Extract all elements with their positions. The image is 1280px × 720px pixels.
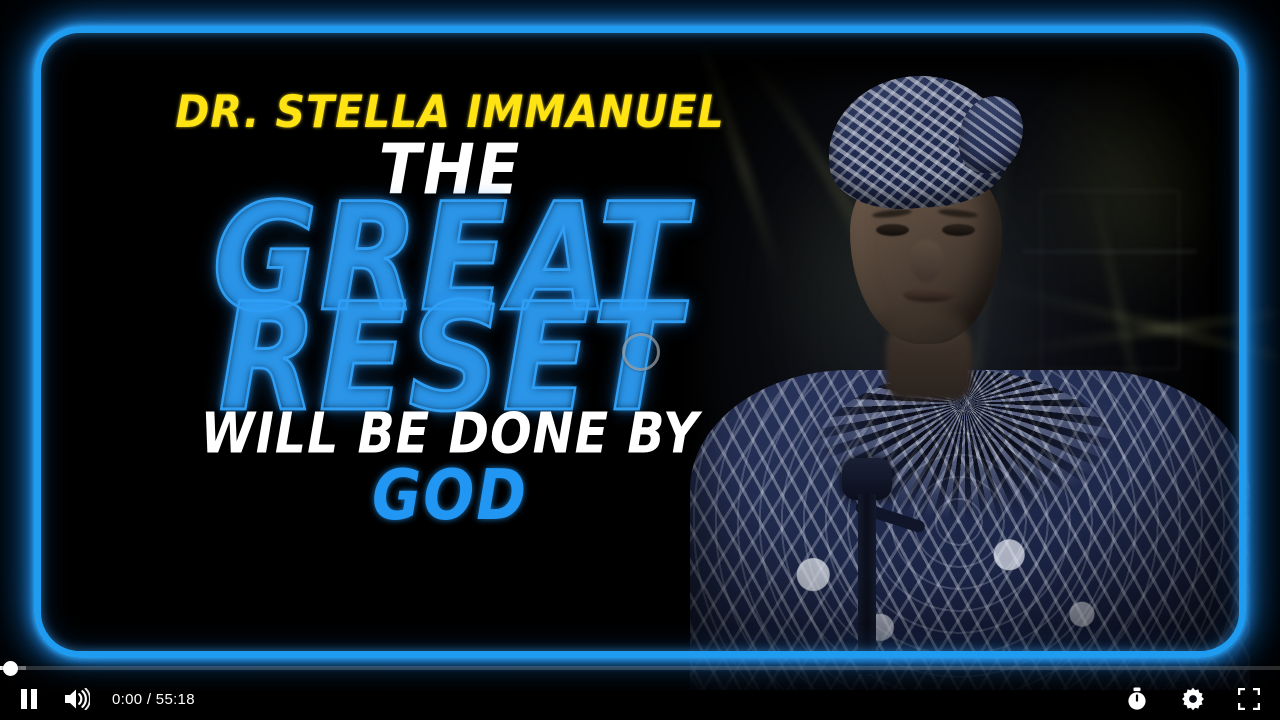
microphone-stem bbox=[858, 494, 876, 674]
presenter-portrait bbox=[660, 70, 1260, 670]
volume-button[interactable] bbox=[62, 684, 92, 714]
pause-button[interactable] bbox=[14, 684, 44, 714]
video-player[interactable]: DR. STELLA IMMANUEL THE GREAT RESET WILL… bbox=[0, 0, 1280, 720]
mouth bbox=[903, 288, 955, 302]
progress-scrubber-handle[interactable] bbox=[3, 661, 18, 676]
video-stage[interactable]: DR. STELLA IMMANUEL THE GREAT RESET WILL… bbox=[0, 0, 1280, 690]
player-control-bar[interactable]: 0:00 / 55:18 bbox=[0, 662, 1280, 720]
nose bbox=[910, 240, 943, 282]
cursor-ring bbox=[622, 333, 660, 371]
playback-speed-icon[interactable] bbox=[1122, 684, 1152, 714]
controls-left-group[interactable]: 0:00 / 55:18 bbox=[14, 684, 195, 714]
chin bbox=[888, 310, 968, 348]
controls-right-group[interactable] bbox=[1122, 684, 1264, 714]
eye-left bbox=[876, 224, 909, 236]
progress-bar[interactable] bbox=[0, 666, 1280, 670]
fullscreen-icon[interactable] bbox=[1234, 684, 1264, 714]
eye-right bbox=[942, 224, 975, 236]
time-display: 0:00 / 55:18 bbox=[112, 691, 195, 708]
gear-icon[interactable] bbox=[1178, 684, 1208, 714]
